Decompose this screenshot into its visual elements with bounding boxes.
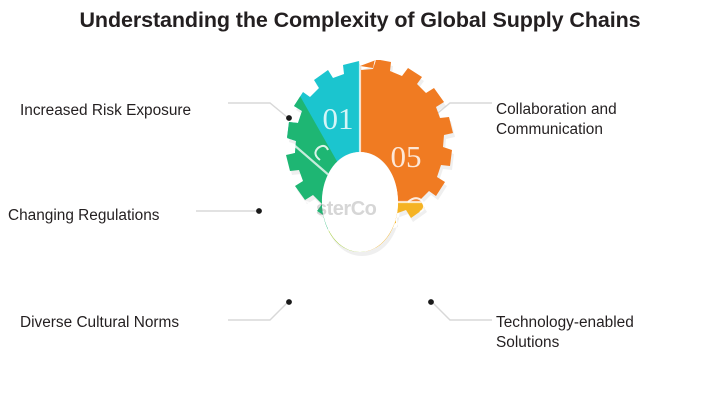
- gear-number-05: 05: [391, 139, 422, 174]
- gear-number-04: 04: [399, 239, 431, 274]
- puzzle-knob-left: [306, 228, 318, 243]
- watermark-text: sterCo: [316, 198, 446, 224]
- label-technology-enabled-solutions: Technology-enabled Solutions: [496, 313, 634, 352]
- infographic-slide: Understanding the Complexity of Global S…: [0, 0, 720, 404]
- label-collaboration-and-communication: Collaboration and Communication: [496, 100, 617, 139]
- gear-number-01: 01: [323, 101, 354, 136]
- gear-number-03: 03: [330, 272, 361, 307]
- gear-number-02: 02: [283, 193, 314, 228]
- label-diverse-cultural-norms: Diverse Cultural Norms: [20, 313, 179, 333]
- puzzle-knob-bottom: [360, 267, 376, 279]
- label-changing-regulations: Changing Regulations: [8, 206, 159, 226]
- label-increased-risk-exposure: Increased Risk Exposure: [20, 101, 191, 121]
- page-title: Understanding the Complexity of Global S…: [0, 8, 720, 33]
